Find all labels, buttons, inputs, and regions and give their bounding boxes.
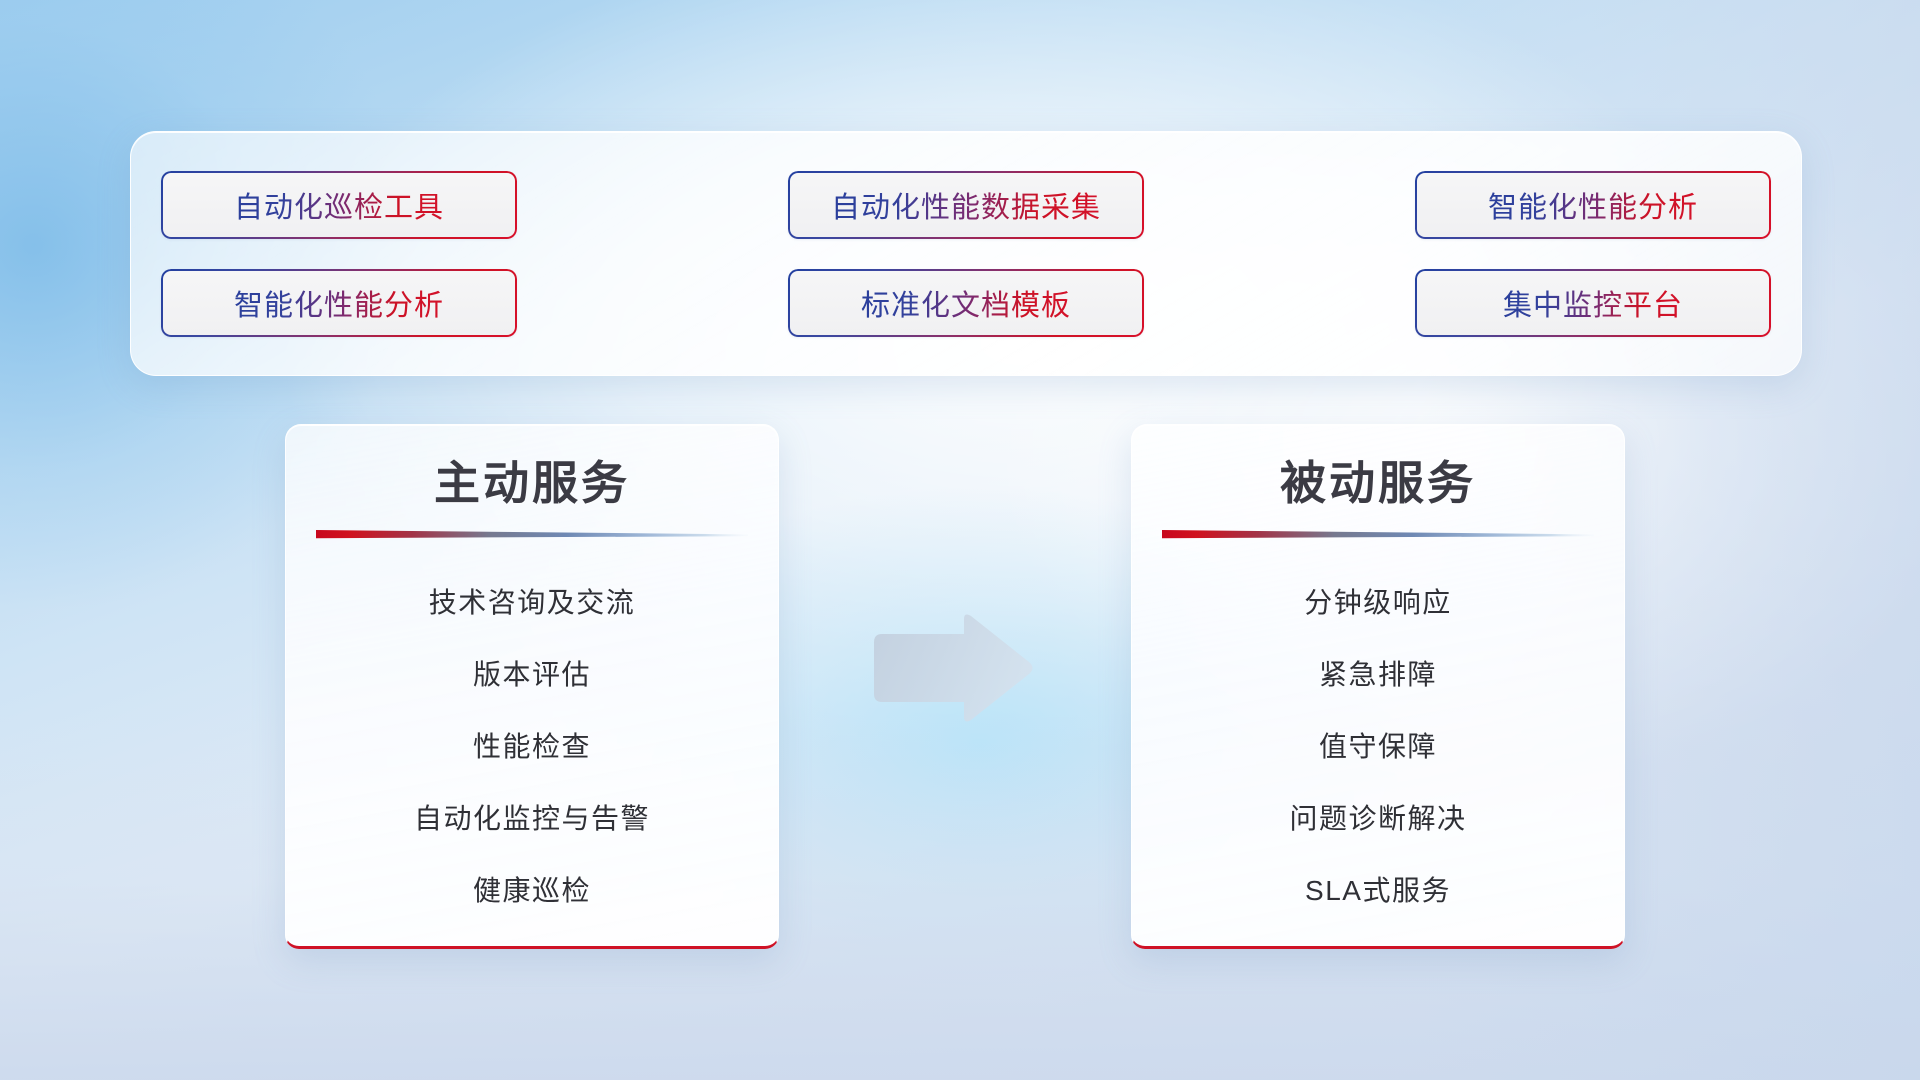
capability-chip-label: 智能化性能分析 (1488, 184, 1698, 226)
capability-chip-label: 自动化巡检工具 (234, 184, 444, 226)
service-card-list: 分钟级响应 紧急排障 值守保障 问题诊断解决 SLA式服务 (1132, 567, 1624, 927)
service-card-reactive: 被动服务 (1131, 424, 1625, 949)
capability-panel: 自动化巡检工具 自动化性能数据采集 智能化性能分析 智能化性能分析 标准化文档模… (130, 131, 1802, 376)
service-card-proactive: 主动服务 (285, 424, 779, 949)
list-item: 自动化监控与告警 (414, 783, 650, 855)
capability-chip-intelligent-performance-analysis[interactable]: 智能化性能分析 (1415, 171, 1771, 239)
gradient-divider (316, 527, 748, 543)
service-card-title: 被动服务 (1280, 455, 1476, 513)
list-item: 版本评估 (473, 639, 591, 711)
capability-chip-intelligent-performance-analysis-2[interactable]: 智能化性能分析 (161, 269, 517, 337)
capability-chip-standard-document-template[interactable]: 标准化文档模板 (788, 269, 1144, 337)
gradient-divider (1162, 527, 1594, 543)
capability-row-1: 自动化巡检工具 自动化性能数据采集 智能化性能分析 (161, 171, 1771, 239)
capability-chip-automated-inspection-tool[interactable]: 自动化巡检工具 (161, 171, 517, 239)
list-item: 健康巡检 (473, 855, 591, 927)
list-item: 分钟级响应 (1304, 567, 1452, 639)
capability-chip-automated-performance-data-collection[interactable]: 自动化性能数据采集 (788, 171, 1144, 239)
capability-chip-label: 智能化性能分析 (234, 282, 444, 324)
service-card-title: 主动服务 (434, 455, 630, 513)
arrow-right-icon (868, 612, 1036, 724)
list-item: 紧急排障 (1319, 639, 1437, 711)
capability-chip-label: 集中监控平台 (1503, 282, 1683, 324)
list-item: 技术咨询及交流 (429, 567, 636, 639)
list-item: SLA式服务 (1305, 855, 1451, 927)
capability-chip-label: 自动化性能数据采集 (831, 184, 1101, 226)
list-item: 问题诊断解决 (1289, 783, 1466, 855)
capability-chip-centralized-monitoring-platform[interactable]: 集中监控平台 (1415, 269, 1771, 337)
capability-chip-label: 标准化文档模板 (861, 282, 1071, 324)
list-item: 性能检查 (473, 711, 591, 783)
capability-row-2: 智能化性能分析 标准化文档模板 集中监控平台 (161, 269, 1771, 337)
service-card-list: 技术咨询及交流 版本评估 性能检查 自动化监控与告警 健康巡检 (286, 567, 778, 927)
list-item: 值守保障 (1319, 711, 1437, 783)
